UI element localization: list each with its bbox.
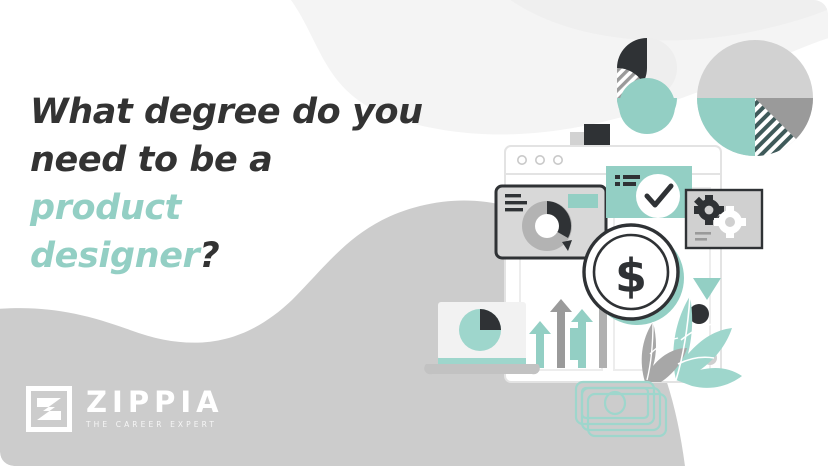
svg-text:$: $ <box>615 249 647 303</box>
zippia-wordmark: ZIPPIA <box>86 387 224 417</box>
settings-card[interactable] <box>686 190 762 248</box>
checkmark-card[interactable] <box>606 166 692 218</box>
banknote-stack <box>576 382 666 436</box>
laptop-pie <box>424 302 540 374</box>
headline-accent-designer: designer <box>30 236 199 276</box>
teal-bar-accent <box>570 328 586 360</box>
petal-cluster <box>617 38 677 134</box>
product-design-illustration: $ <box>410 28 820 448</box>
headline-line-1: What degree do you <box>30 92 423 132</box>
zippia-logo[interactable]: ZIPPIA THE CAREER EXPERT <box>26 386 224 432</box>
headline-question-mark: ? <box>199 236 219 276</box>
promo-card: What degree do you need to be a product … <box>0 0 828 466</box>
headline-accent-product: product <box>30 188 181 228</box>
zippia-z-mark-icon <box>26 386 72 432</box>
page-title: What degree do you need to be a product … <box>30 88 430 280</box>
headline-line-2-plain: need to be a <box>30 140 272 180</box>
pie-chart <box>697 40 813 156</box>
zippia-tagline: THE CAREER EXPERT <box>86 419 224 431</box>
